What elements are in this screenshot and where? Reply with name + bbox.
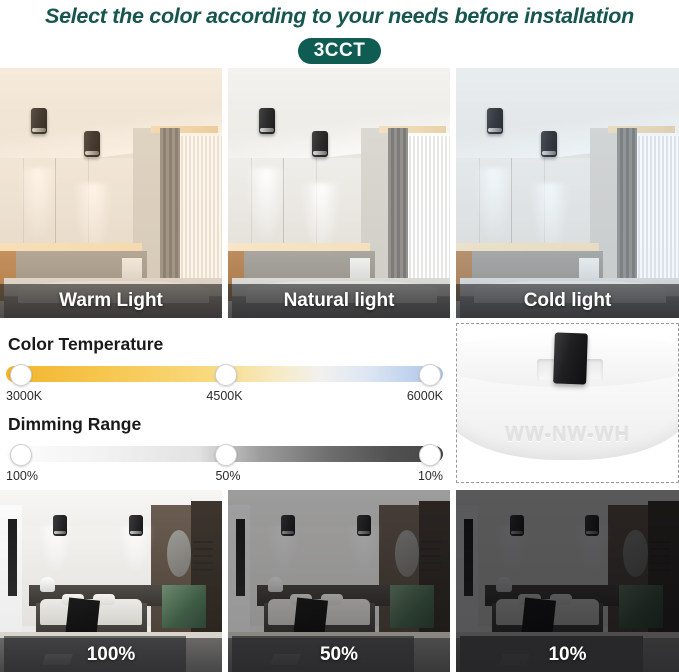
slider-knob-4500k[interactable] — [215, 364, 237, 386]
shelf-niche — [236, 519, 245, 595]
switch-label: WW-NW-WH — [457, 424, 678, 447]
dimming-card-10[interactable]: 10% — [456, 490, 679, 672]
round-mirror — [623, 530, 648, 577]
cct-switch-panel[interactable]: WW-NW-WH — [456, 323, 679, 483]
downlight-fixture-icon — [585, 515, 599, 536]
downlight-fixture-icon — [510, 515, 524, 536]
curtain — [617, 128, 637, 283]
downlight-fixture-icon — [312, 131, 328, 157]
tick-label: 100% — [6, 469, 38, 483]
dimming-card-50[interactable]: 50% — [228, 490, 450, 672]
cct-caption: Warm Light — [0, 284, 222, 318]
slider-knob-3000k[interactable] — [10, 364, 32, 386]
infographic-page: Select the color according to your needs… — [0, 0, 679, 672]
downlight-fixture-icon — [31, 108, 47, 134]
dimming-caption: 100% — [0, 638, 222, 672]
bedroom-scene — [456, 68, 679, 318]
tick-label: 4500K — [206, 389, 242, 403]
towel-rack — [421, 541, 441, 574]
round-mirror — [395, 530, 419, 577]
slider-knob-10[interactable] — [419, 444, 441, 466]
cct-caption: Cold light — [456, 284, 679, 318]
tick-label: 6000K — [407, 389, 443, 403]
towel-rack — [193, 541, 213, 574]
sheer-curtain — [632, 136, 679, 281]
cct-badge: 3CCT — [298, 38, 382, 65]
tick-label: 50% — [215, 469, 240, 483]
dimming-range-section: Dimming Range 100% 50% 10% — [6, 414, 443, 483]
table-lamp — [268, 577, 284, 592]
sheer-curtain — [403, 136, 450, 281]
cct-card-cold[interactable]: Cold light — [456, 68, 679, 318]
cct-caption: Natural light — [228, 284, 450, 318]
green-marble-counter — [390, 585, 434, 629]
shelf-niche — [464, 519, 473, 595]
light-cone — [18, 168, 58, 243]
shelf-niche — [8, 519, 17, 595]
downlight-fixture-icon — [129, 515, 143, 536]
downlight-fixture-icon — [487, 108, 503, 134]
color-temperature-title: Color Temperature — [8, 334, 443, 355]
dimming-range-ticks: 100% 50% 10% — [6, 469, 443, 483]
dimming-range-title: Dimming Range — [8, 414, 443, 435]
slider-knob-100[interactable] — [10, 444, 32, 466]
downlight-fixture-icon — [541, 131, 557, 157]
downlight-fixture-icon — [281, 515, 295, 536]
table-lamp — [40, 577, 56, 592]
downlight-fixture-icon — [84, 131, 100, 157]
color-temperature-ticks: 3000K 4500K 6000K — [6, 389, 443, 403]
dimming-card-100[interactable]: 100% — [0, 490, 222, 672]
cct-card-natural[interactable]: Natural light — [228, 68, 450, 318]
light-cone — [474, 168, 514, 243]
page-title: Select the color according to your needs… — [0, 0, 679, 32]
cct-toggle-switch[interactable] — [553, 333, 588, 385]
curtain — [160, 128, 180, 283]
downlight-fixture-icon — [53, 515, 67, 536]
downlight-fixture-icon — [259, 108, 275, 134]
towel-rack — [650, 541, 670, 574]
downlight-fixture-icon — [357, 515, 371, 536]
round-mirror — [167, 530, 191, 577]
curtain — [388, 128, 408, 283]
dimming-caption: 10% — [456, 638, 679, 672]
slider-knob-50[interactable] — [215, 444, 237, 466]
tick-label: 10% — [418, 469, 443, 483]
green-marble-counter — [619, 585, 664, 629]
cct-card-warm[interactable]: Warm Light — [0, 68, 222, 318]
dimming-caption: 50% — [228, 638, 450, 672]
sheer-curtain — [175, 136, 222, 281]
color-temperature-slider[interactable] — [6, 366, 443, 382]
light-cone — [246, 168, 286, 243]
slider-knob-6000k[interactable] — [419, 364, 441, 386]
tick-label: 3000K — [6, 389, 42, 403]
badge-container: 3CCT — [0, 36, 679, 66]
bedroom-scene — [228, 68, 450, 318]
table-lamp — [496, 577, 512, 592]
bedroom-scene — [0, 68, 222, 318]
color-temperature-section: Color Temperature 3000K 4500K 6000K — [6, 334, 443, 403]
green-marble-counter — [162, 585, 206, 629]
dimming-range-slider[interactable] — [6, 446, 443, 462]
